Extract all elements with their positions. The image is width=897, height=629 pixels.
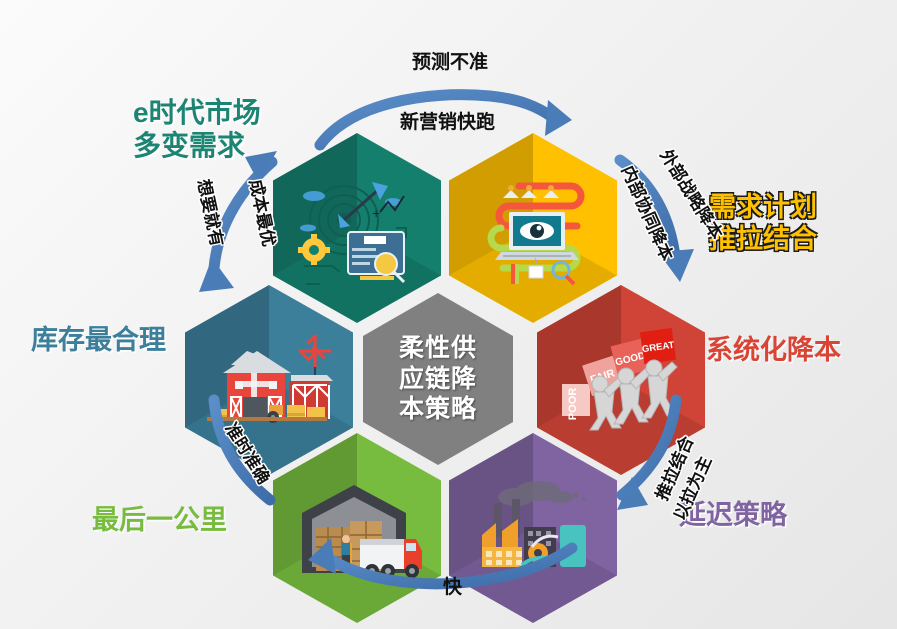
- hex-market-demand[interactable]: +: [273, 133, 441, 323]
- factory-plant-icon: [468, 469, 598, 587]
- center-title: 柔性供 应链降 本策略: [399, 333, 477, 425]
- hex-optimal-inventory[interactable]: [185, 285, 353, 475]
- diagram-canvas: +: [0, 0, 897, 629]
- svg-text:+: +: [372, 205, 380, 221]
- center-title-line-3: 本策略: [399, 394, 477, 425]
- target-dart-analytics-icon: +: [292, 168, 422, 288]
- svg-text:POOR: POOR: [567, 388, 579, 420]
- warehouse-truck-icon: [290, 469, 424, 587]
- hex-postponement-strategy[interactable]: [449, 433, 617, 623]
- laptop-eye-monitor-icon: [467, 166, 599, 291]
- label-systematic-cost-reduction-line-1: 系统化降本: [706, 335, 841, 367]
- center-title-line-1: 柔性供: [399, 333, 477, 364]
- caption-new-marketing-fast: 新营销快跑: [400, 107, 495, 134]
- center-title-line-2: 应链降: [399, 364, 477, 395]
- label-systematic-cost-reduction: 系统化降本: [706, 335, 841, 367]
- label-demand-plan-line-1: 需求计划: [709, 192, 817, 224]
- caption-forecast-inaccurate: 预测不准: [412, 47, 488, 74]
- label-market-demand-line-2: 多变需求: [133, 129, 261, 162]
- hex-center-strategy[interactable]: 柔性供 应链降 本策略: [363, 293, 513, 465]
- teamwork-lifting-blocks-icon: POOR FAIR GOOD GREAT: [554, 320, 689, 440]
- label-last-mile-line-1: 最后一公里: [92, 505, 227, 537]
- hex-demand-plan[interactable]: [449, 133, 617, 323]
- label-market-demand-line-1: e时代市场: [133, 96, 261, 129]
- label-optimal-inventory: 库存最合理: [31, 325, 166, 357]
- label-optimal-inventory-line-1: 库存最合理: [31, 325, 166, 357]
- hex-last-mile[interactable]: [273, 433, 441, 623]
- label-last-mile: 最后一公里: [92, 505, 227, 537]
- label-market-demand: e时代市场 多变需求: [133, 96, 261, 162]
- barn-farm-icon: [201, 321, 337, 439]
- caption-fast: 快: [443, 572, 462, 599]
- ring-label-want-and-have: 想要就有: [193, 177, 232, 249]
